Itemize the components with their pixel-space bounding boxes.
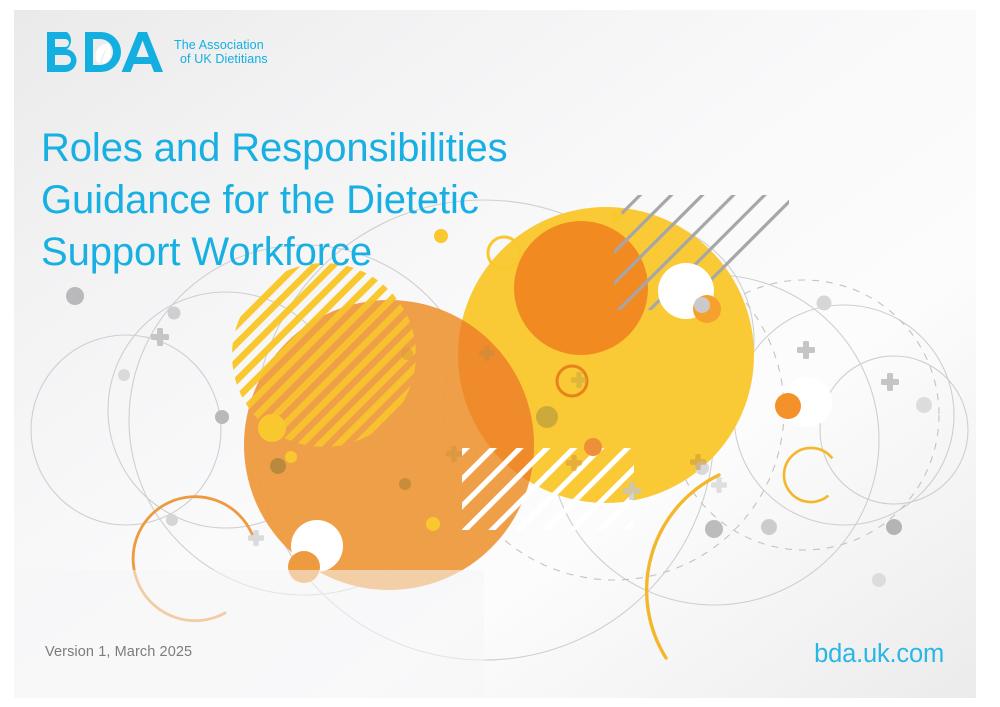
- cover-page: The Association of UK Dietitians Roles a…: [14, 10, 976, 698]
- tagline-line-1: The Association: [174, 38, 264, 52]
- cover-artwork: [14, 10, 976, 698]
- footer-wash: [14, 570, 484, 698]
- tagline-line-2: of UK Dietitians: [174, 52, 268, 66]
- bda-tagline: The Association of UK Dietitians: [174, 38, 268, 66]
- bda-wordmark-icon: [45, 30, 163, 74]
- website-url[interactable]: bda.uk.com: [814, 640, 944, 669]
- version-label: Version 1, March 2025: [45, 644, 192, 660]
- bda-logo: The Association of UK Dietitians: [45, 30, 268, 74]
- page-title: Roles and Responsibilities Guidance for …: [41, 122, 508, 278]
